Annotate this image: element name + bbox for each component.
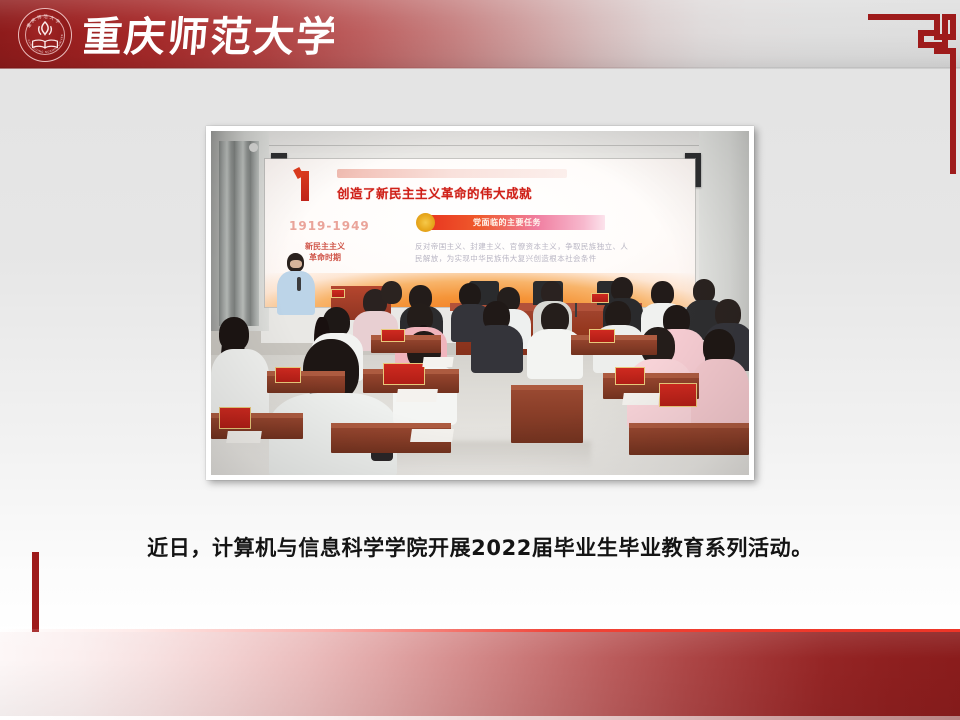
desk-top bbox=[511, 385, 583, 390]
desk-nameplate bbox=[219, 407, 251, 429]
desk-nameplate bbox=[615, 367, 645, 385]
slide-canvas: 重庆师范大学 CHONGQING NORMAL UNIVERSITY 重庆师范大… bbox=[0, 0, 960, 720]
event-photo-frame: 创造了新民主主义革命的伟大成就 1919-1949 新民主主义 革命时期 党面临… bbox=[206, 126, 754, 480]
desk-nameplate bbox=[659, 383, 697, 407]
party-emblem-icon bbox=[416, 213, 435, 232]
slide-faint-headline bbox=[337, 169, 567, 178]
desk-paper bbox=[226, 431, 262, 443]
desk-nameplate bbox=[275, 367, 301, 383]
emblem-open-book-glyph bbox=[31, 39, 59, 50]
university-name-text: 重庆师范大学 bbox=[84, 13, 334, 61]
desk-paper bbox=[622, 393, 660, 405]
slide-headline: 创造了新民主主义革命的伟大成就 bbox=[337, 183, 532, 202]
slide-year-range: 1919-1949 bbox=[289, 219, 370, 233]
desk-nameplate bbox=[591, 293, 609, 303]
slide-body-text: 反对帝国主义、封建主义、官僚资本主义，争取民族独立、人民解放，为实现中华民族伟大… bbox=[415, 241, 630, 265]
footer-bottom-edge bbox=[0, 716, 960, 720]
header-underline bbox=[0, 67, 960, 69]
slide-period-label: 新民主主义 革命时期 bbox=[295, 241, 355, 263]
ceiling-seam bbox=[211, 145, 749, 146]
slide-period-line1: 新民主主义 bbox=[295, 241, 355, 252]
table-microphone bbox=[575, 303, 577, 317]
university-name-wordmark: 重庆师范大学 bbox=[84, 7, 334, 62]
ceiling-camera-icon bbox=[249, 143, 258, 152]
desk-paper bbox=[396, 389, 438, 402]
desk-paper bbox=[422, 357, 453, 367]
speaker-torso bbox=[277, 271, 315, 315]
slide-badge-text: 党面临的主要任务 bbox=[473, 217, 541, 228]
desk-nameplate bbox=[381, 329, 405, 342]
desk-nameplate bbox=[331, 289, 345, 298]
person-head bbox=[381, 281, 402, 304]
speaker-face bbox=[290, 260, 302, 268]
student-desk bbox=[511, 385, 583, 443]
student-desk bbox=[629, 423, 749, 455]
desk-nameplate bbox=[589, 329, 615, 343]
desk-top bbox=[629, 423, 749, 428]
person-torso bbox=[691, 359, 749, 431]
slide-task-badge: 党面临的主要任务 bbox=[425, 215, 605, 230]
emblem-flame-glyph bbox=[34, 21, 56, 41]
desk-top bbox=[331, 423, 451, 428]
desk-paper bbox=[410, 429, 454, 442]
photo-curtain bbox=[219, 141, 259, 326]
university-emblem-icon: 重庆师范大学 CHONGQING NORMAL UNIVERSITY bbox=[18, 8, 72, 62]
person-head bbox=[219, 317, 249, 351]
person-torso bbox=[471, 325, 523, 373]
desk-nameplate bbox=[383, 363, 425, 385]
slide-number-marker bbox=[301, 171, 309, 201]
handheld-microphone bbox=[297, 277, 301, 291]
chinese-corner-ornament-top-right bbox=[852, 8, 960, 180]
footer-band-shade bbox=[0, 632, 960, 720]
slide-caption: 近日，计算机与信息科学学院开展2022届毕业生毕业教育系列活动。 bbox=[0, 532, 960, 562]
event-photo: 创造了新民主主义革命的伟大成就 1919-1949 新民主主义 革命时期 党面临… bbox=[211, 131, 749, 475]
slide-period-line2: 革命时期 bbox=[295, 252, 355, 263]
